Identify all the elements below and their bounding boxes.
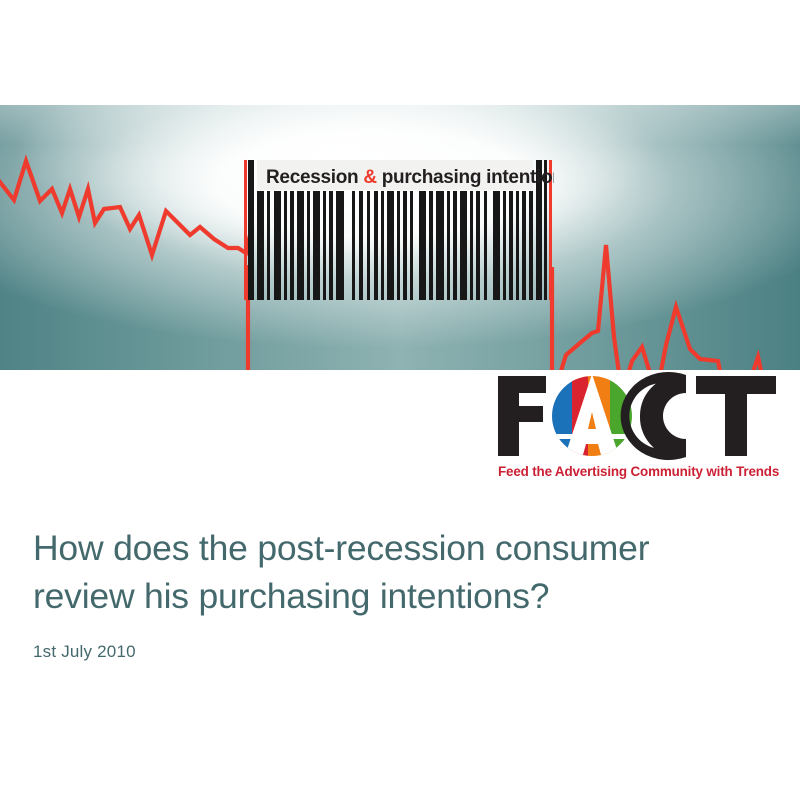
barcode-label-part2: purchasing intention [377, 167, 554, 188]
slide-date: 1st July 2010 [33, 642, 763, 662]
presentation-slide: Recession & purchasing intention [0, 0, 800, 800]
fact-logo: A Feed the Advertising Community with Tr… [490, 368, 790, 480]
barcode-bars: Recession & purchasing intention [244, 160, 554, 300]
barcode-label: Recession & purchasing intention [266, 167, 554, 188]
page-title: How does the post-recession consumer rev… [33, 524, 763, 620]
barcode-graphic: Recession & purchasing intention [244, 160, 554, 300]
fact-logo-letter-f [498, 376, 546, 456]
barcode-label-ampersand: & [363, 167, 377, 188]
barcode-label-part1: Recession [266, 167, 363, 188]
fact-logo-tagline: Feed the Advertising Community with Tren… [498, 464, 779, 479]
fact-logo-letter-t [696, 376, 776, 456]
title-block: How does the post-recession consumer rev… [33, 524, 763, 662]
